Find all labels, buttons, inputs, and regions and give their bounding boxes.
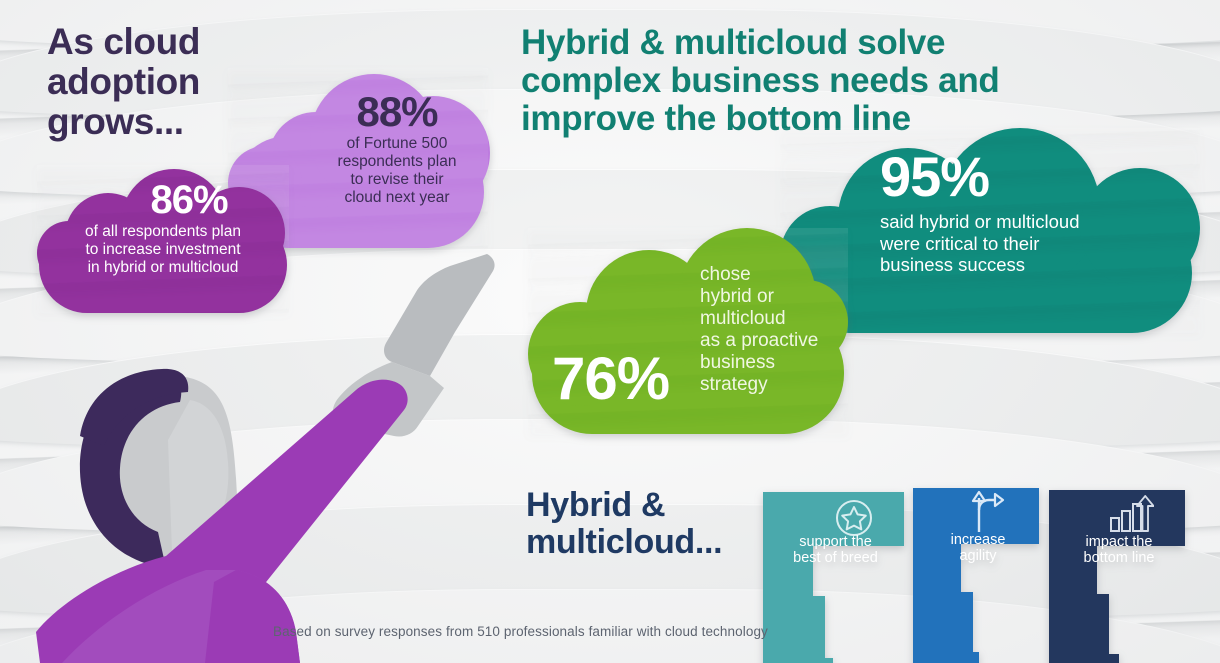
stat-76-line-5: business (700, 352, 850, 374)
benefit-3-line-1: impact the (1049, 534, 1189, 550)
star-in-circle-icon (833, 497, 875, 539)
stat-76-line-4: as a proactive (700, 330, 850, 352)
stat-95-percent: 95% (880, 150, 1190, 203)
stat-86-percent: 86% (43, 181, 283, 219)
benefit-cloud-best-of-breed[interactable]: support the best of breed (763, 492, 908, 582)
stat-88-line-3: to revise their (312, 171, 482, 189)
benefit-1-line-1: support the (763, 534, 908, 550)
benefit-cloud-agility[interactable]: increase agility (913, 488, 1043, 580)
stat-95-line-1: said hybrid or multicloud (880, 211, 1190, 232)
stat-76-line-2: hybrid or (700, 286, 850, 308)
stat-88-line-4: cloud next year (312, 189, 482, 207)
stat-95-line-3: business success (880, 254, 1190, 275)
benefit-cloud-bottom-line[interactable]: impact the bottom line (1049, 490, 1189, 582)
stat-88-line-1: of Fortune 500 (312, 135, 482, 153)
stat-76-line-1: chose (700, 264, 850, 286)
benefit-2-line-1: increase (913, 532, 1043, 548)
heading-bottom: Hybrid & multicloud... (526, 487, 776, 560)
benefit-2-line-2: agility (913, 548, 1043, 564)
stat-95-line-2: were critical to their (880, 233, 1190, 254)
stat-88-percent: 88% (312, 92, 482, 132)
heading-right: Hybrid & multicloud solve complex busine… (521, 24, 1001, 137)
cloud-stat-86: 86% of all respondents plan to increase … (37, 165, 289, 313)
stat-76-line-6: strategy (700, 374, 850, 396)
stat-88-line-2: respondents plan (312, 153, 482, 171)
stat-76-percent: 76% (552, 350, 669, 407)
branching-arrows-icon (963, 490, 1005, 534)
benefit-3-line-2: bottom line (1049, 550, 1189, 566)
stat-86-line-1: of all respondents plan (43, 223, 283, 241)
footnote: Based on survey responses from 510 profe… (273, 624, 768, 639)
infographic-canvas: As cloud adoption grows... 88% of Fortun… (0, 0, 1220, 663)
stat-76-line-3: multicloud (700, 308, 850, 330)
stat-86-line-3: in hybrid or multicloud (43, 259, 283, 277)
stat-86-line-2: to increase investment (43, 241, 283, 259)
benefit-1-line-2: best of breed (763, 550, 908, 566)
cloud-stat-76: chose hybrid or multicloud as a proactiv… (528, 228, 848, 434)
bar-chart-arrow-icon (1108, 494, 1154, 534)
